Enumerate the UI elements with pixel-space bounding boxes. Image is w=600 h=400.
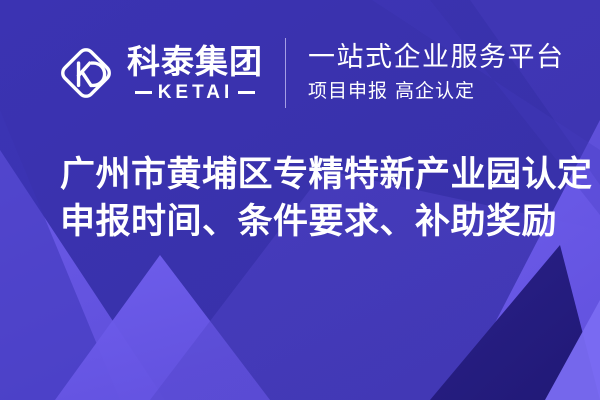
brand-name-en-row: KETAI	[127, 83, 263, 102]
tagline-block: 一站式企业服务平台 项目申报 高企认定	[308, 42, 565, 104]
headline-line-1: 广州市黄埔区专精特新产业园认定	[60, 152, 593, 199]
ketai-diamond-kd-monogram-icon	[55, 42, 117, 104]
brand-wordmark: 科泰集团 KETAI	[127, 44, 263, 102]
brand-dash-right	[238, 91, 255, 94]
tagline-primary: 一站式企业服务平台	[308, 42, 565, 74]
banner-content: 科泰集团 KETAI 一站式企业服务平台 项目申报 高企认定 广州市黄埔区专精特…	[0, 0, 600, 400]
brand-logo[interactable]: 科泰集团 KETAI	[55, 42, 263, 104]
banner-header: 科泰集团 KETAI 一站式企业服务平台 项目申报 高企认定	[55, 38, 565, 108]
brand-name-cn: 科泰集团	[127, 44, 263, 81]
brand-dash-left	[135, 91, 152, 94]
headline-block: 广州市黄埔区专精特新产业园认定 申报时间、条件要求、补助奖励	[60, 152, 593, 245]
promo-banner: 科泰集团 KETAI 一站式企业服务平台 项目申报 高企认定 广州市黄埔区专精特…	[0, 0, 600, 400]
brand-name-en: KETAI	[158, 83, 234, 102]
headline-line-2: 申报时间、条件要求、补助奖励	[60, 199, 593, 246]
tagline-secondary: 项目申报 高企认定	[308, 78, 565, 105]
header-divider	[285, 38, 286, 108]
